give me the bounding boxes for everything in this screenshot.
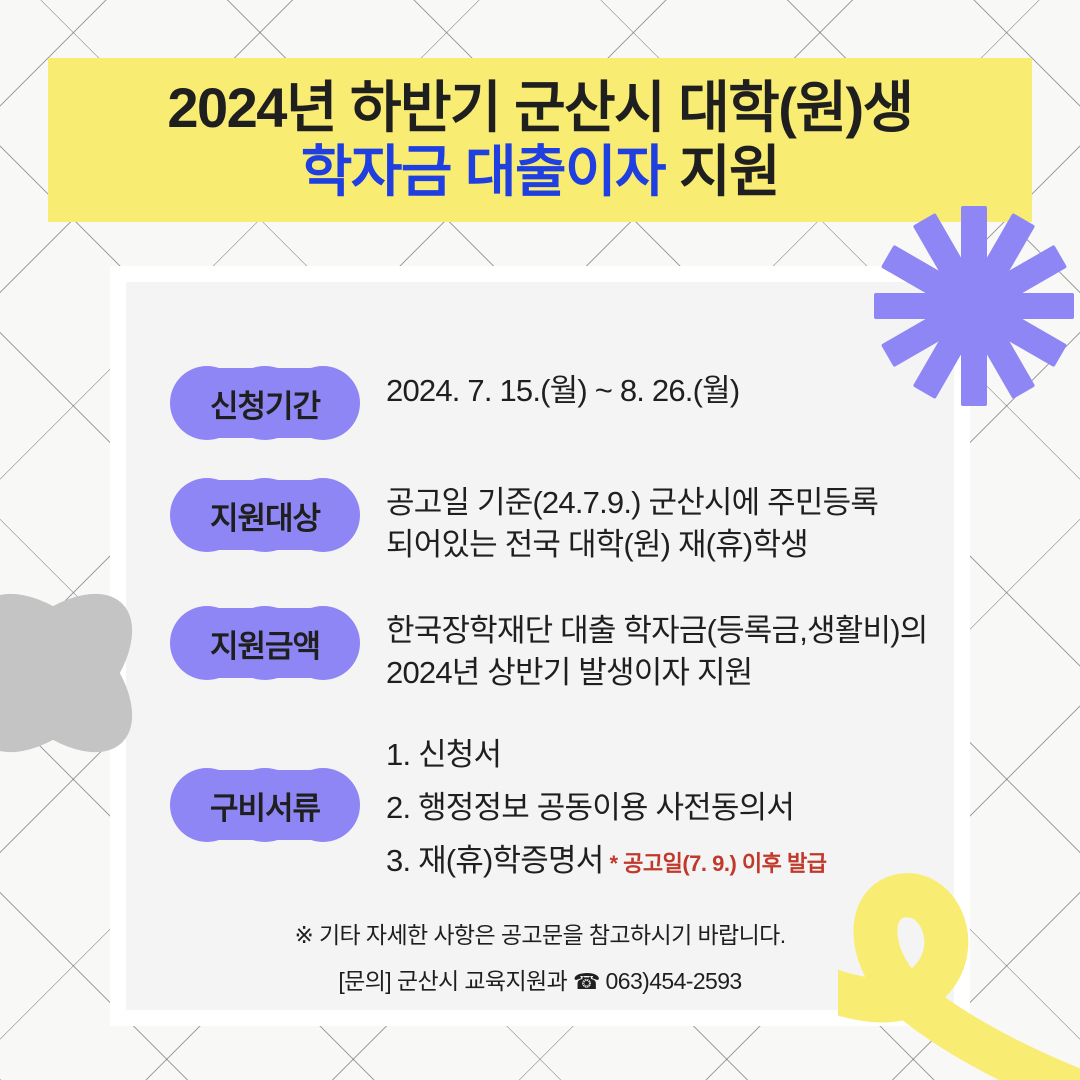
document-note: * 공고일(7. 9.) 이후 발급 (609, 851, 826, 876)
title-line-2-tail: 지원 (665, 140, 779, 203)
title-line-1: 2024년 하반기 군산시 대학(원)생 (167, 78, 912, 138)
footer-contact: [문의] 군산시 교육지원과 ☎ 063)454-2593 (110, 962, 970, 996)
badge-required-documents: 구비서류 (170, 768, 360, 842)
poster-root: 2024년 하반기 군산시 대학(원)생 학자금 대출이자 지원 신청기간 20… (0, 0, 1080, 1080)
row-line: 한국장학재단 대출 학자금(등록금,생활비)의 (386, 610, 927, 652)
row-body-application-period: 2024. 7. 15.(월) ~ 8. 26.(월) (386, 366, 739, 412)
row-application-period: 신청기간 2024. 7. 15.(월) ~ 8. 26.(월) (170, 366, 739, 440)
document-item-with-note: 3. 재(휴)학증명서* 공고일(7. 9.) 이후 발급 (386, 840, 826, 882)
badge-label: 지원대상 (170, 478, 360, 552)
title-banner: 2024년 하반기 군산시 대학(원)생 학자금 대출이자 지원 (48, 58, 1032, 222)
row-body-required-documents: 1. 신청서 2. 행정정보 공동이용 사전동의서 3. 재(휴)학증명서* 공… (386, 734, 826, 893)
content-rows: 신청기간 2024. 7. 15.(월) ~ 8. 26.(월) 지원대상 공고… (110, 266, 970, 1026)
row-support-amount: 지원금액 한국장학재단 대출 학자금(등록금,생활비)의 2024년 상반기 발… (170, 606, 927, 694)
row-body-eligibility: 공고일 기준(24.7.9.) 군산시에 주민등록 되어있는 전국 대학(원) … (386, 478, 878, 566)
badge-support-amount: 지원금액 (170, 606, 360, 680)
document-item-text: 3. 재(휴)학증명서 (386, 843, 603, 878)
phone-icon: ☎ (573, 969, 600, 994)
title-line-2: 학자금 대출이자 지원 (301, 142, 779, 202)
badge-label: 지원금액 (170, 606, 360, 680)
row-eligibility: 지원대상 공고일 기준(24.7.9.) 군산시에 주민등록 되어있는 전국 대… (170, 478, 878, 566)
row-line: 2024년 상반기 발생이자 지원 (386, 652, 927, 694)
row-line: 2024. 7. 15.(월) ~ 8. 26.(월) (386, 370, 739, 412)
badge-label: 구비서류 (170, 768, 360, 842)
title-line-2-highlight: 학자금 대출이자 (301, 140, 665, 203)
row-body-support-amount: 한국장학재단 대출 학자금(등록금,생활비)의 2024년 상반기 발생이자 지… (386, 606, 927, 694)
row-line: 되어있는 전국 대학(원) 재(휴)학생 (386, 524, 878, 566)
footer-contact-prefix: [문의] 군산시 교육지원과 (338, 968, 573, 994)
footer-phone-number: 063)454-2593 (600, 968, 742, 994)
row-line: 공고일 기준(24.7.9.) 군산시에 주민등록 (386, 482, 878, 524)
footer-notes: ※ 기타 자세한 사항은 공고문을 참고하시기 바랍니다. [문의] 군산시 교… (110, 916, 970, 996)
badge-eligibility: 지원대상 (170, 478, 360, 552)
document-item: 2. 행정정보 공동이용 사전동의서 (386, 787, 826, 829)
footer-disclaimer: ※ 기타 자세한 사항은 공고문을 참고하시기 바랍니다. (110, 916, 970, 950)
row-required-documents: 구비서류 1. 신청서 2. 행정정보 공동이용 사전동의서 3. 재(휴)학증… (170, 734, 826, 893)
badge-label: 신청기간 (170, 366, 360, 440)
document-item: 1. 신청서 (386, 734, 826, 776)
badge-application-period: 신청기간 (170, 366, 360, 440)
